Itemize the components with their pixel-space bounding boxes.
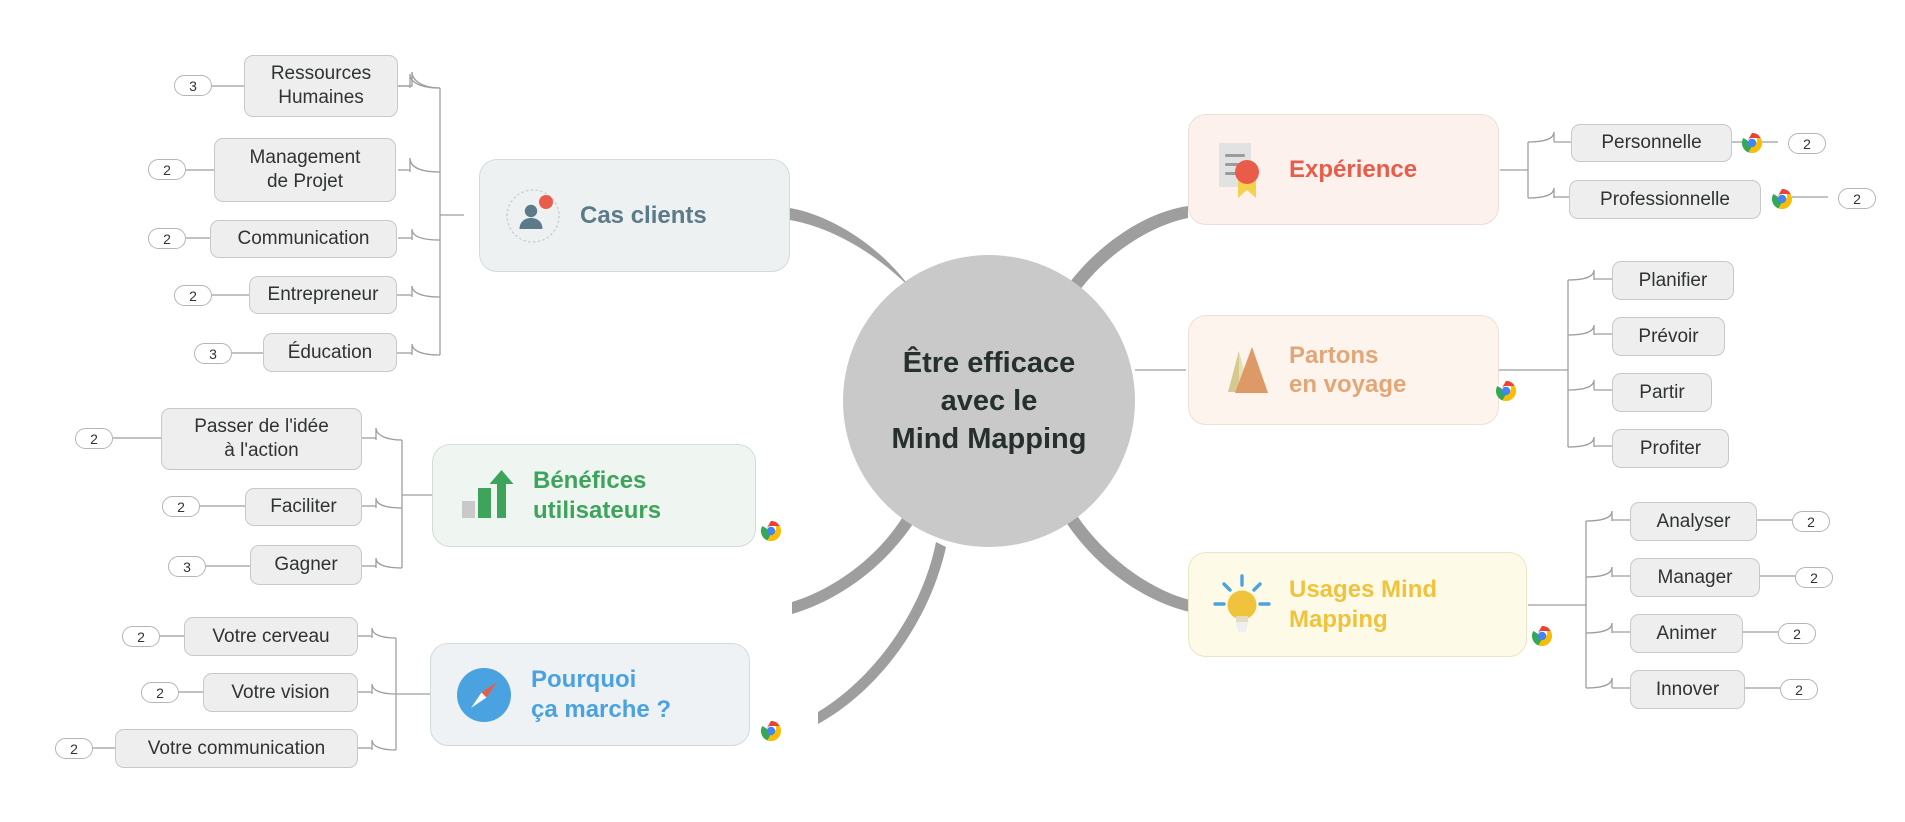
- subtopic-votre-vision[interactable]: Votre vision: [203, 673, 358, 712]
- count-badge-votre-cerveau[interactable]: 2: [122, 626, 160, 647]
- subtopic-manager[interactable]: Manager: [1630, 558, 1760, 597]
- count-badge-value: 2: [70, 741, 78, 757]
- count-badge-value: 2: [163, 231, 171, 247]
- count-badge-professionnelle[interactable]: 2: [1838, 188, 1876, 209]
- count-badge-value: 2: [1795, 682, 1803, 698]
- subtopic-label: Éducation: [288, 341, 373, 365]
- count-badge-ressources-humaines[interactable]: 3: [174, 75, 212, 96]
- subtopic-label: Profiter: [1640, 437, 1701, 461]
- central-topic-line-1: Être efficace: [903, 344, 1076, 382]
- branch-experience[interactable]: Expérience: [1188, 114, 1499, 225]
- branch-label-partons-en-voyage: Partons en voyage: [1289, 341, 1406, 400]
- subtopic-label: Innover: [1656, 678, 1719, 702]
- subtopic-label: Passer de l'idée à l'action: [194, 415, 329, 463]
- count-badge-management-de-projet[interactable]: 2: [148, 159, 186, 180]
- count-badge-animer[interactable]: 2: [1778, 623, 1816, 644]
- subtopic-label: Votre cerveau: [212, 625, 329, 649]
- count-badge-passer-de-lidee-a-laction[interactable]: 2: [75, 428, 113, 449]
- subtopic-personnelle[interactable]: Personnelle: [1571, 124, 1732, 162]
- subtopic-animer[interactable]: Animer: [1630, 614, 1743, 653]
- subtopic-label: Planifier: [1639, 269, 1708, 293]
- subtopic-label: Personnelle: [1601, 131, 1701, 155]
- count-badge-gagner[interactable]: 3: [168, 556, 206, 577]
- count-badge-value: 2: [90, 431, 98, 447]
- branch-benefices-utilisateurs[interactable]: Bénéfices utilisateurs: [432, 444, 756, 547]
- subtopic-professionnelle[interactable]: Professionnelle: [1569, 180, 1761, 219]
- subtopic-label: Gagner: [274, 553, 337, 577]
- subtopic-label: Votre communication: [148, 737, 325, 761]
- subtopic-analyser[interactable]: Analyser: [1630, 502, 1757, 541]
- subtopic-ressources-humaines[interactable]: Ressources Humaines: [244, 55, 398, 117]
- count-badge-value: 2: [1853, 191, 1861, 207]
- subtopic-votre-communication[interactable]: Votre communication: [115, 729, 358, 768]
- subtopic-partir[interactable]: Partir: [1612, 373, 1712, 412]
- count-badge-value: 2: [1793, 626, 1801, 642]
- subtopic-faciliter[interactable]: Faciliter: [245, 488, 362, 526]
- chrome-icon-pourquoi[interactable]: [760, 720, 782, 742]
- subtopic-communication[interactable]: Communication: [210, 220, 397, 258]
- subtopic-label: Faciliter: [270, 495, 337, 519]
- count-badge-value: 3: [183, 559, 191, 575]
- count-badge-value: 2: [163, 162, 171, 178]
- branch-label-experience: Expérience: [1289, 155, 1417, 184]
- branch-partons-en-voyage[interactable]: Partons en voyage: [1188, 315, 1499, 425]
- subtopic-planifier[interactable]: Planifier: [1612, 261, 1734, 300]
- chrome-icon-partons[interactable]: [1495, 380, 1517, 402]
- subtopic-management-de-projet[interactable]: Management de Projet: [214, 138, 396, 202]
- subtopic-prevoir[interactable]: Prévoir: [1612, 317, 1725, 356]
- branch-usages-mind-mapping[interactable]: Usages Mind Mapping: [1188, 552, 1527, 657]
- count-badge-value: 3: [209, 346, 217, 362]
- branch-pourquoi-ca-marche[interactable]: Pourquoi ça marche ?: [430, 643, 750, 746]
- central-topic-line-3: Mind Mapping: [892, 420, 1087, 458]
- count-badge-votre-communication[interactable]: 2: [55, 738, 93, 759]
- subtopic-label: Votre vision: [231, 681, 329, 705]
- person-badge-icon: [502, 185, 564, 247]
- central-topic-line-2: avec le: [941, 382, 1038, 420]
- subtopic-entrepreneur[interactable]: Entrepreneur: [249, 276, 397, 314]
- pyramid-icon: [1211, 339, 1273, 401]
- subtopic-innover[interactable]: Innover: [1630, 670, 1745, 709]
- branch-label-pourquoi-ca-marche: Pourquoi ça marche ?: [531, 665, 671, 724]
- subtopic-label: Partir: [1639, 381, 1684, 405]
- count-badge-value: 2: [1807, 514, 1815, 530]
- central-topic[interactable]: Être efficace avec le Mind Mapping: [843, 255, 1135, 547]
- chrome-icon-benefices[interactable]: [760, 520, 782, 542]
- branch-label-usages-mind-mapping: Usages Mind Mapping: [1289, 575, 1437, 634]
- count-badge-value: 2: [156, 685, 164, 701]
- count-badge-education[interactable]: 3: [194, 343, 232, 364]
- count-badge-value: 2: [189, 288, 197, 304]
- subtopic-profiter[interactable]: Profiter: [1612, 429, 1729, 468]
- lightbulb-icon: [1211, 574, 1273, 636]
- subtopic-education[interactable]: Éducation: [263, 333, 397, 372]
- chrome-icon-usages[interactable]: [1531, 625, 1553, 647]
- count-badge-analyser[interactable]: 2: [1792, 511, 1830, 532]
- branch-cas-clients[interactable]: Cas clients: [479, 159, 790, 272]
- subtopic-label: Animer: [1656, 622, 1716, 646]
- subtopic-label: Communication: [238, 227, 370, 251]
- subtopic-passer-de-lidee-a-laction[interactable]: Passer de l'idée à l'action: [161, 408, 362, 470]
- count-badge-communication[interactable]: 2: [148, 228, 186, 249]
- subtopic-votre-cerveau[interactable]: Votre cerveau: [184, 617, 358, 656]
- certificate-icon: [1211, 139, 1273, 201]
- subtopic-label: Professionnelle: [1600, 188, 1730, 212]
- count-badge-votre-vision[interactable]: 2: [141, 682, 179, 703]
- count-badge-value: 2: [1810, 570, 1818, 586]
- count-badge-personnelle[interactable]: 2: [1788, 133, 1826, 154]
- count-badge-value: 2: [1803, 136, 1811, 152]
- subtopic-label: Manager: [1658, 566, 1733, 590]
- count-badge-faciliter[interactable]: 2: [162, 496, 200, 517]
- count-badge-innover[interactable]: 2: [1780, 679, 1818, 700]
- mindmap-canvas: Être efficace avec le Mind Mapping Cas c…: [0, 0, 1905, 822]
- branch-label-benefices-utilisateurs: Bénéfices utilisateurs: [533, 466, 661, 525]
- count-badge-entrepreneur[interactable]: 2: [174, 285, 212, 306]
- count-badge-manager[interactable]: 2: [1795, 567, 1833, 588]
- chrome-icon-personnelle[interactable]: [1741, 132, 1763, 154]
- branch-label-cas-clients: Cas clients: [580, 201, 707, 230]
- subtopic-label: Ressources Humaines: [271, 62, 371, 110]
- count-badge-value: 2: [177, 499, 185, 515]
- compass-icon: [453, 664, 515, 726]
- subtopic-label: Analyser: [1657, 510, 1731, 534]
- count-badge-value: 3: [189, 78, 197, 94]
- growth-chart-icon: [455, 465, 517, 527]
- subtopic-label: Entrepreneur: [268, 283, 379, 307]
- subtopic-label: Management de Projet: [250, 146, 361, 194]
- count-badge-value: 2: [137, 629, 145, 645]
- subtopic-gagner[interactable]: Gagner: [250, 545, 362, 585]
- subtopic-label: Prévoir: [1638, 325, 1698, 349]
- chrome-icon-professionnelle[interactable]: [1771, 188, 1793, 210]
